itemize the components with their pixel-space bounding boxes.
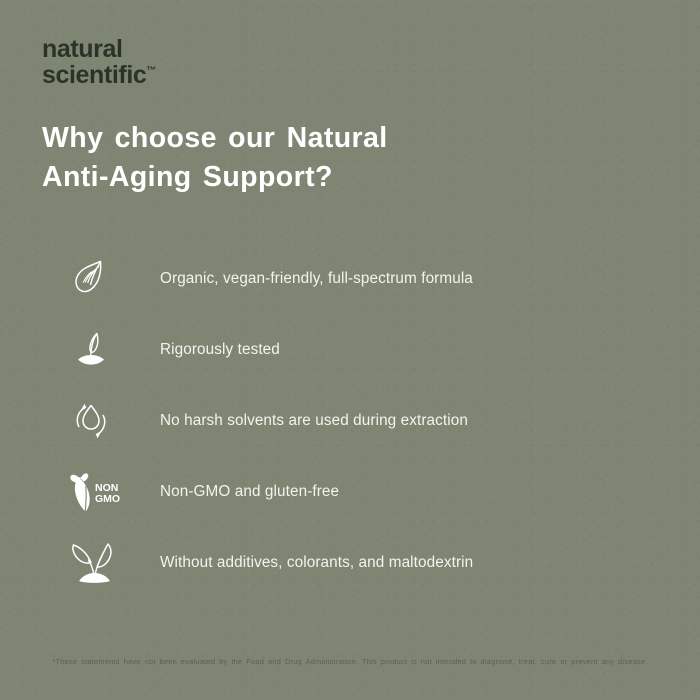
brand-name-line1: natural (42, 36, 156, 62)
water-drop-recycle-icon (62, 395, 120, 447)
brand-name-line2: scientific (42, 61, 146, 89)
non-gmo-butterfly-icon: NON GMO (62, 466, 126, 518)
feature-list: Organic, vegan-friendly, full-spectrum f… (0, 243, 700, 598)
feature-text: Non-GMO and gluten-free (160, 483, 339, 501)
feature-text: No harsh solvents are used during extrac… (160, 412, 468, 430)
promo-panel: natural scientific™ Why choose our Natur… (0, 0, 700, 700)
headline-line-1: Why choose our Natural (42, 122, 388, 154)
list-item: Organic, vegan-friendly, full-spectrum f… (0, 243, 700, 314)
non-gmo-badge-line2: GMO (95, 493, 120, 505)
list-item: No harsh solvents are used during extrac… (0, 385, 700, 456)
headline-line-2: Anti-Aging Support? (42, 161, 333, 193)
page-title: Why choose our Natural Anti-Aging Suppor… (42, 119, 512, 197)
two-leaf-sprout-icon (62, 534, 126, 592)
feature-text: Organic, vegan-friendly, full-spectrum f… (160, 270, 473, 288)
leaf-drop-icon (62, 253, 120, 305)
list-item: Without additives, colorants, and maltod… (0, 527, 700, 598)
list-item: Rigorously tested (0, 314, 700, 385)
brand-logo: natural scientific™ (42, 36, 156, 88)
fda-disclaimer: *These statements have not been evaluate… (0, 657, 700, 666)
feature-text: Without additives, colorants, and maltod… (160, 554, 473, 572)
brand-name-line2-wrap: scientific™ (42, 62, 156, 88)
sprout-in-dish-icon (62, 324, 120, 376)
feature-text: Rigorously tested (160, 341, 280, 359)
list-item: NON GMO Non-GMO and gluten-free (0, 456, 700, 527)
trademark-symbol: ™ (146, 66, 156, 77)
